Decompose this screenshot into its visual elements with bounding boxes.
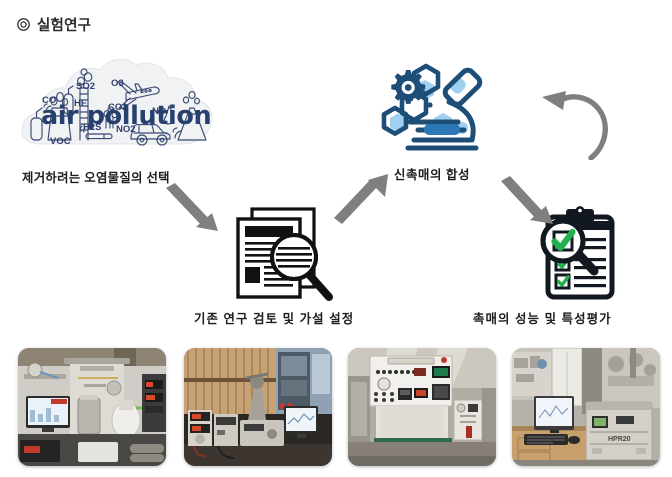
photo-control-panel-cabinet — [348, 348, 496, 466]
double-circle-bullet-icon — [17, 18, 30, 31]
photo-bench-instruments — [184, 348, 332, 466]
page-title: 실험연구 — [17, 14, 91, 35]
pollutant-tag-voc: VOC — [50, 136, 71, 147]
step-label-literature-review: 기존 연구 검토 및 가설 설정 — [194, 309, 354, 327]
pollutant-tag-o3: O3 — [111, 78, 124, 89]
photo-laboratory-reactor — [18, 348, 166, 466]
step-label-performance-evaluation: 촉매의 성능 및 특성평가 — [473, 309, 612, 327]
step-label-pollutant-selection: 제거하려는 오염물질의 선택 — [22, 168, 170, 186]
photo-analyzer-workstation: HPR20 — [512, 348, 660, 466]
documents-magnifier-icon — [228, 205, 338, 305]
pollutant-tag-so2: SO2 — [76, 81, 95, 92]
arrow-up-right-icon — [330, 172, 396, 224]
slide-canvas: 실험연구 — [0, 0, 672, 477]
air-pollution-wordmark: air pollution — [41, 101, 211, 131]
air-pollution-cloud-icon: SO2 O3 CO HF CO2 NO VOC H2S NO2 air poll… — [18, 48, 218, 160]
curved-arrow-counterclockwise-icon — [536, 88, 618, 160]
arrow-down-right-icon — [160, 181, 230, 233]
page-title-text: 실험연구 — [37, 14, 91, 35]
svg-text:HPR20: HPR20 — [608, 436, 631, 443]
microscope-molecule-icon — [378, 52, 500, 162]
photo-strip: HPR20 — [0, 348, 672, 470]
step-label-catalyst-synthesis: 신촉매의 합성 — [394, 165, 470, 183]
arrow-down-right-icon — [496, 175, 562, 227]
